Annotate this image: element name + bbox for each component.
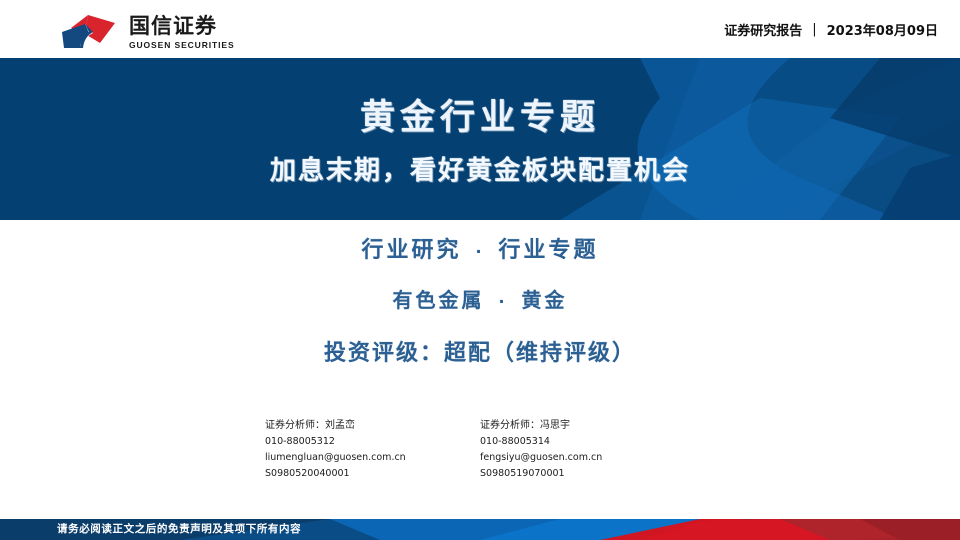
logo-chinese-name: 国信证券 xyxy=(129,14,235,38)
analyst-license-1: S0980520040001 xyxy=(265,466,480,482)
header-meta: 证券研究报告 | 2023年08月09日 xyxy=(724,20,938,39)
sector-left: 有色金属 xyxy=(392,288,484,312)
analyst-contacts: 证券分析师：刘孟峦 010-88005312 liumengluan@guose… xyxy=(0,418,960,482)
logo-text: 国信证券 GUOSEN SECURITIES xyxy=(129,14,235,51)
analyst-email-1: liumengluan@guosen.com.cn xyxy=(265,450,480,466)
report-cover-page: 国信证券 GUOSEN SECURITIES 证券研究报告 | 2023年08月… xyxy=(0,0,960,540)
header-divider: | xyxy=(812,22,816,37)
report-subtitle: 加息末期，看好黄金板块配置机会 xyxy=(270,153,690,189)
classification-block: 行业研究·行业专题 有色金属·黄金 投资评级：超配（维持评级） xyxy=(0,232,960,367)
guosen-logo-icon xyxy=(58,12,120,52)
sector-right: 黄金 xyxy=(522,288,568,312)
research-category-left: 行业研究 xyxy=(361,238,461,263)
logo-english-name: GUOSEN SECURITIES xyxy=(129,39,235,51)
category-dot-1: · xyxy=(461,242,498,261)
analyst-phone-1: 010-88005312 xyxy=(265,434,480,450)
page-footer: 请务必阅读正文之后的免责声明及其项下所有内容 xyxy=(0,519,960,540)
banner-text-block: 黄金行业专题 加息末期，看好黄金板块配置机会 xyxy=(0,58,960,220)
analyst-email-2: fengsiyu@guosen.com.cn xyxy=(480,450,695,466)
report-title: 黄金行业专题 xyxy=(360,93,600,143)
analyst-name-2: 证券分析师：冯思宇 xyxy=(480,418,695,434)
page-header: 国信证券 GUOSEN SECURITIES 证券研究报告 | 2023年08月… xyxy=(0,0,960,58)
title-banner: 黄金行业专题 加息末期，看好黄金板块配置机会 xyxy=(0,58,960,220)
report-date: 2023年08月09日 xyxy=(827,20,938,39)
footer-disclaimer: 请务必阅读正文之后的免责声明及其项下所有内容 xyxy=(57,519,301,540)
sector-line: 有色金属·黄金 xyxy=(392,284,567,313)
research-category-right: 行业专题 xyxy=(499,238,599,263)
brand-logo: 国信证券 GUOSEN SECURITIES xyxy=(58,12,235,52)
analyst-card-2: 证券分析师：冯思宇 010-88005314 fengsiyu@guosen.c… xyxy=(480,418,695,482)
research-category-line: 行业研究·行业专题 xyxy=(361,232,598,264)
analyst-card-1: 证券分析师：刘孟峦 010-88005312 liumengluan@guose… xyxy=(265,418,480,482)
report-type-label: 证券研究报告 xyxy=(724,20,802,39)
investment-rating: 投资评级：超配（维持评级） xyxy=(324,335,636,367)
category-dot-2: · xyxy=(484,292,521,311)
analyst-phone-2: 010-88005314 xyxy=(480,434,695,450)
analyst-name-1: 证券分析师：刘孟峦 xyxy=(265,418,480,434)
analyst-license-2: S0980519070001 xyxy=(480,466,695,482)
